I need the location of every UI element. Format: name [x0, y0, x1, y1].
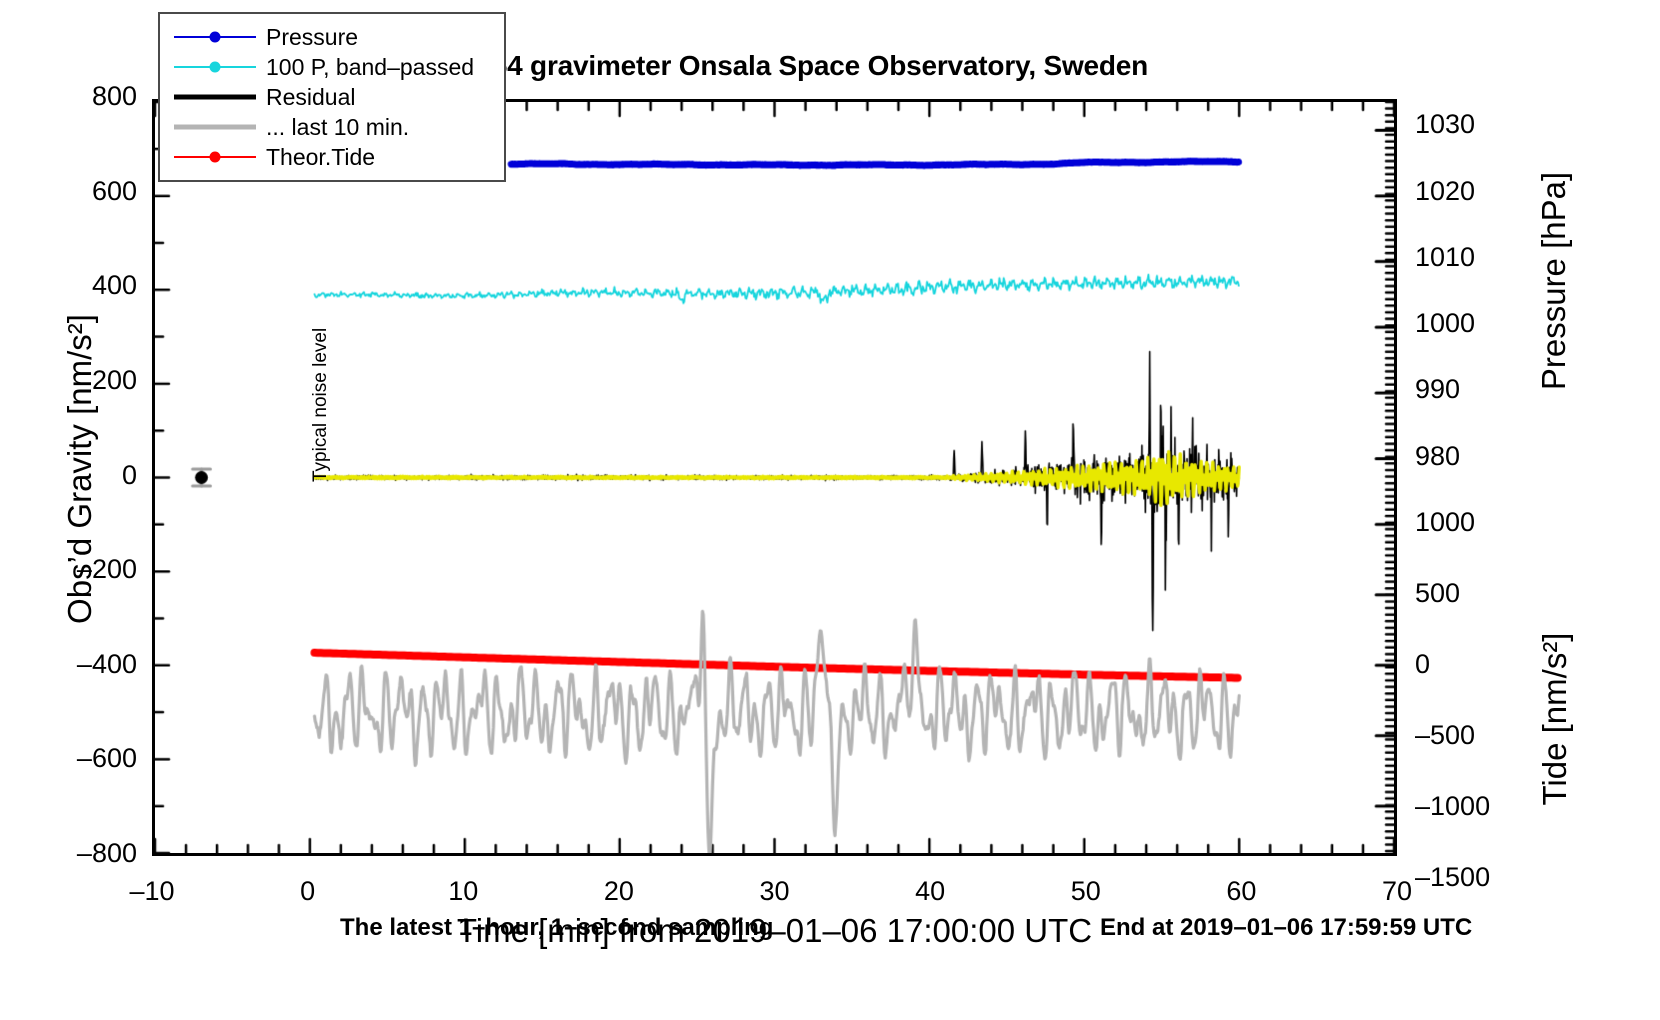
legend-item-label: Theor.Tide	[266, 146, 375, 169]
pressure-tick-1020: 1020	[1415, 176, 1515, 207]
plot-area: Typical noise level The latest 1–hour, 1…	[152, 99, 1397, 856]
legend-swatch-icon	[174, 55, 256, 79]
tide-tick-0: 0	[1415, 649, 1535, 680]
x-axis-label: Time [min] from 2019–01–06 17:00:00 UTC	[152, 912, 1397, 950]
y-tick-200: 200	[0, 365, 137, 396]
tide-tick--1000: –1000	[1415, 791, 1535, 822]
x-tick-10: 10	[403, 876, 523, 907]
y-tick--600: –600	[0, 743, 137, 774]
y-axis-label-pressure: Pressure [hPa]	[1535, 71, 1573, 491]
pressure-tick-990: 990	[1415, 374, 1515, 405]
x-tick-20: 20	[559, 876, 679, 907]
x-tick-60: 60	[1181, 876, 1301, 907]
tide-tick-500: 500	[1415, 578, 1535, 609]
legend-swatch-icon	[174, 145, 256, 169]
pressure-tick-1000: 1000	[1415, 308, 1515, 339]
legend-item-0: Pressure	[160, 22, 504, 52]
legend-item-3: ... last 10 min.	[160, 112, 504, 142]
tide-tick--1500: –1500	[1415, 862, 1535, 893]
x-tick-50: 50	[1026, 876, 1146, 907]
y-axis-label-tide: Tide [nm/s²]	[1536, 564, 1574, 874]
legend-swatch-icon	[174, 115, 256, 139]
legend-item-label: Residual	[266, 86, 356, 109]
noise-level-label: Typical noise level	[310, 232, 332, 482]
legend-item-label: 100 P, band–passed	[266, 56, 474, 79]
y-tick-800: 800	[0, 81, 137, 112]
x-tick-0: 0	[248, 876, 368, 907]
x-tick-30: 30	[715, 876, 835, 907]
chart-root: SCG_054 gravimeter Onsala Space Observat…	[0, 0, 1660, 1020]
y-tick-400: 400	[0, 270, 137, 301]
tide-tick--500: –500	[1415, 720, 1535, 751]
pressure-tick-1030: 1030	[1415, 109, 1515, 140]
legend-item-2: Residual	[160, 82, 504, 112]
y-tick--200: –200	[0, 554, 137, 585]
legend-item-label: Pressure	[266, 26, 358, 49]
x-tick--10: –10	[92, 876, 212, 907]
x-tick-40: 40	[870, 876, 990, 907]
legend-item-4: Theor.Tide	[160, 142, 504, 172]
pressure-tick-1010: 1010	[1415, 242, 1515, 273]
legend-swatch-icon	[174, 85, 256, 109]
pressure-tick-980: 980	[1415, 441, 1515, 472]
y-tick-600: 600	[0, 176, 137, 207]
legend-swatch-icon	[174, 25, 256, 49]
legend-item-label: ... last 10 min.	[266, 116, 409, 139]
legend-item-1: 100 P, band–passed	[160, 52, 504, 82]
y-tick--800: –800	[0, 838, 137, 869]
plot-canvas	[155, 102, 1394, 853]
y-tick--400: –400	[0, 649, 137, 680]
legend: Pressure100 P, band–passedResidual... la…	[158, 12, 506, 182]
tide-tick-1000: 1000	[1415, 507, 1535, 538]
y-tick-0: 0	[0, 460, 137, 491]
